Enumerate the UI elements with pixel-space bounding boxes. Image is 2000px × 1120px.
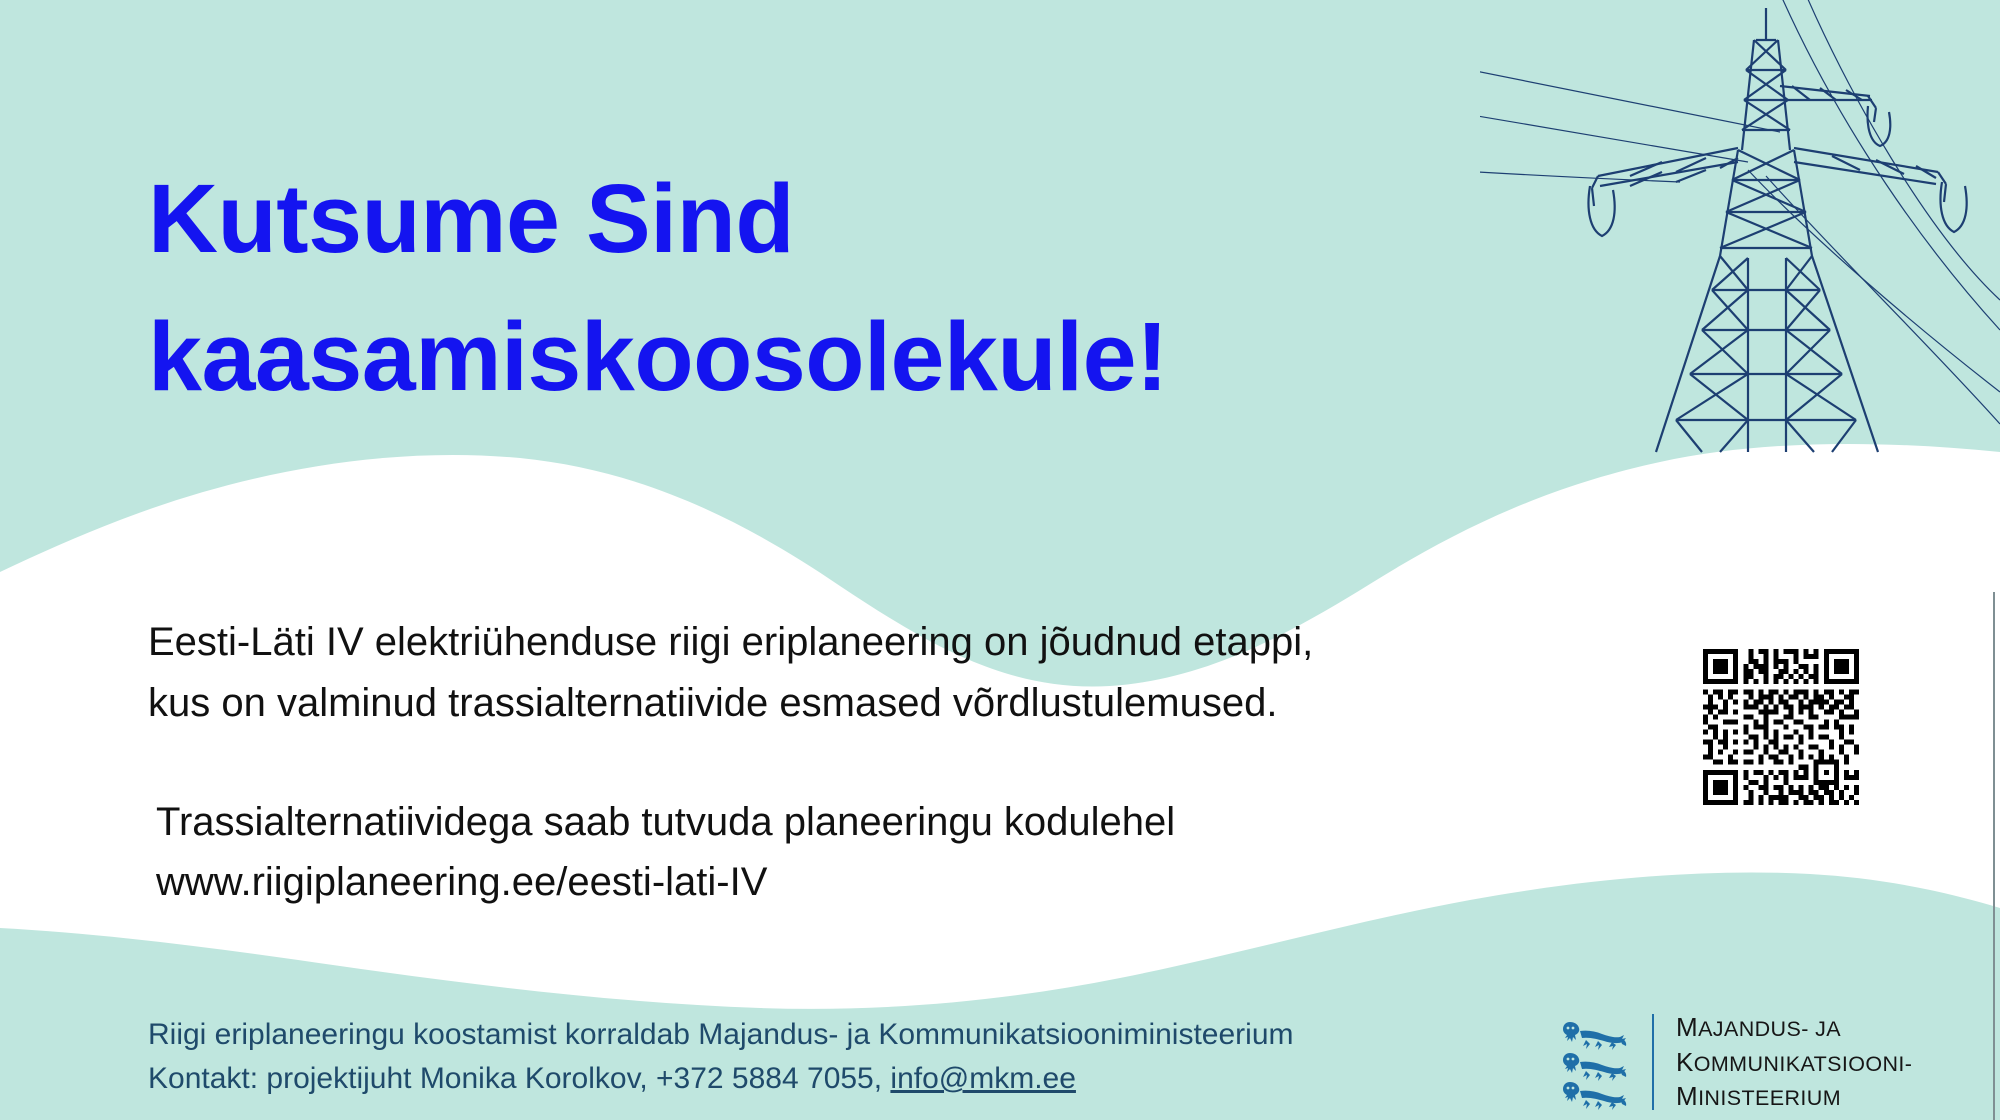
qr-code[interactable]: [1698, 644, 1864, 810]
ministry-name-line-2: KOMMUNIKATSIOONI-: [1676, 1045, 1912, 1080]
tower-structure: [1589, 8, 1967, 452]
paragraph-two: Trassialternatiividega saab tutvuda plan…: [148, 792, 1568, 914]
ministry-name-line-1: MAJANDUS- JA: [1676, 1010, 1912, 1045]
headline: Kutsume Sind kaasamiskoosolekule!: [148, 150, 1398, 425]
paragraph-one-line-1: Eesti-Läti IV elektriühenduse riigi erip…: [148, 612, 1568, 673]
ministry-name-line-3: MINISTEERIUM: [1676, 1079, 1912, 1114]
email-link[interactable]: info@mkm.ee: [890, 1062, 1076, 1095]
website-url[interactable]: www.riigiplaneering.ee/eesti-lati-IV: [156, 852, 1568, 913]
ministry-name: MAJANDUS- JA KOMMUNIKATSIOONI- MINISTEER…: [1676, 1010, 1912, 1114]
paragraph-one: Eesti-Läti IV elektriühenduse riigi erip…: [148, 612, 1568, 734]
poster-canvas: Kutsume Sind kaasamiskoosolekule! Eesti-…: [0, 0, 2000, 1120]
footer-line-1: Riigi eriplaneeringu koostamist korralda…: [148, 1013, 1294, 1057]
footer-contact-prefix: Kontakt: projektijuht Monika Korolkov, +…: [148, 1062, 890, 1095]
paragraph-one-line-2: kus on valminud trassialternatiivide esm…: [148, 673, 1568, 734]
right-edge-rule: [1993, 592, 1995, 1120]
body-copy: Eesti-Läti IV elektriühenduse riigi erip…: [148, 612, 1568, 913]
footer-line-2: Kontakt: projektijuht Monika Korolkov, +…: [148, 1057, 1294, 1101]
headline-line-2: kaasamiskoosolekule!: [148, 288, 1398, 426]
ministry-logo: MAJANDUS- JA KOMMUNIKATSIOONI- MINISTEER…: [1556, 1012, 1912, 1112]
electricity-transmission-tower: [1480, 0, 2000, 470]
footer-text: Riigi eriplaneeringu koostamist korralda…: [148, 1013, 1294, 1102]
paragraph-two-line-1: Trassialternatiividega saab tutvuda plan…: [156, 792, 1568, 853]
headline-line-1: Kutsume Sind: [148, 150, 1398, 288]
estonian-coat-of-arms-icon: [1556, 1014, 1634, 1110]
logo-divider: [1652, 1014, 1654, 1110]
